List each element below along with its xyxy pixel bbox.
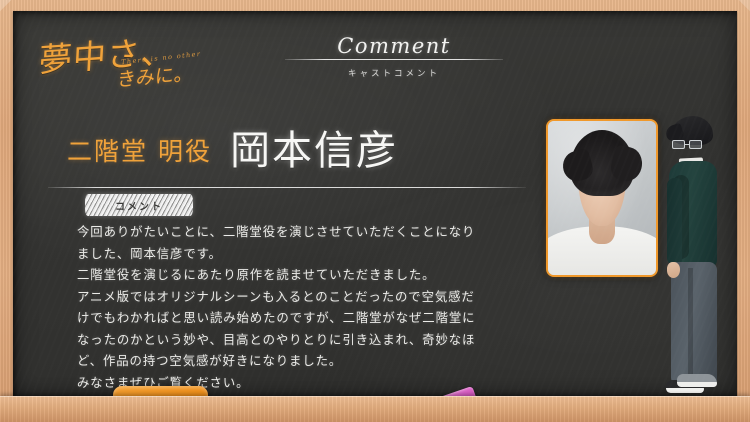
comment-line: ました、岡本信彦です。 (77, 243, 527, 265)
comment-line: ど、作品の持つ空気感が好きになりました。 (77, 350, 527, 372)
character-arm (667, 178, 682, 266)
section-divider (48, 187, 526, 188)
cast-name-row: 二階堂 明役 岡本信彦 (67, 131, 398, 171)
comment-label-badge: コメント (85, 194, 193, 216)
comment-header-title: Comment (285, 35, 503, 58)
character-illustration (657, 116, 737, 396)
comment-body: 今回ありがたいことに、二階堂役を演じさせていただくことになり ました、岡本信彦で… (77, 221, 527, 393)
photo-hair (570, 130, 635, 196)
comment-header-subtitle: キャストコメント (285, 67, 503, 79)
chalk-tray-ledge (0, 396, 750, 422)
comment-line: アニメ版ではオリジナルシーンも入るとのことだったので空気感だ (77, 286, 527, 308)
comment-line: 二階堂役を演じるにあたり原作を読ませていただきました。 (77, 264, 527, 286)
character-hand (667, 262, 680, 278)
voice-actor-photo (546, 119, 658, 277)
comment-header: Comment キャストコメント (285, 35, 503, 79)
glasses-icon (672, 140, 706, 149)
character-shoe-front (677, 374, 717, 387)
voice-actor-name: 岡本信彦 (230, 131, 398, 171)
series-logo-second: きみに。 (116, 59, 193, 93)
character-jeans (671, 262, 717, 384)
comment-label-text: コメント (115, 198, 163, 213)
comment-header-rule (285, 59, 503, 60)
comment-line: なったのかという妙や、目高とのやりとりに引き込まれ、奇妙なほ (77, 329, 527, 351)
comment-line: けでもわかればと思い読み始めたのですが、二階堂がなぜ二階堂に (77, 307, 527, 329)
series-logo: 夢中さ、 There is no other きみに。 (31, 21, 281, 101)
character-role-name: 二階堂 明役 (67, 132, 212, 171)
blackboard-frame: 夢中さ、 There is no other きみに。 Comment キャスト… (0, 0, 750, 422)
blackboard: 夢中さ、 There is no other きみに。 Comment キャスト… (13, 11, 737, 396)
comment-line: 今回ありがたいことに、二階堂役を演じさせていただくことになり (77, 221, 527, 243)
